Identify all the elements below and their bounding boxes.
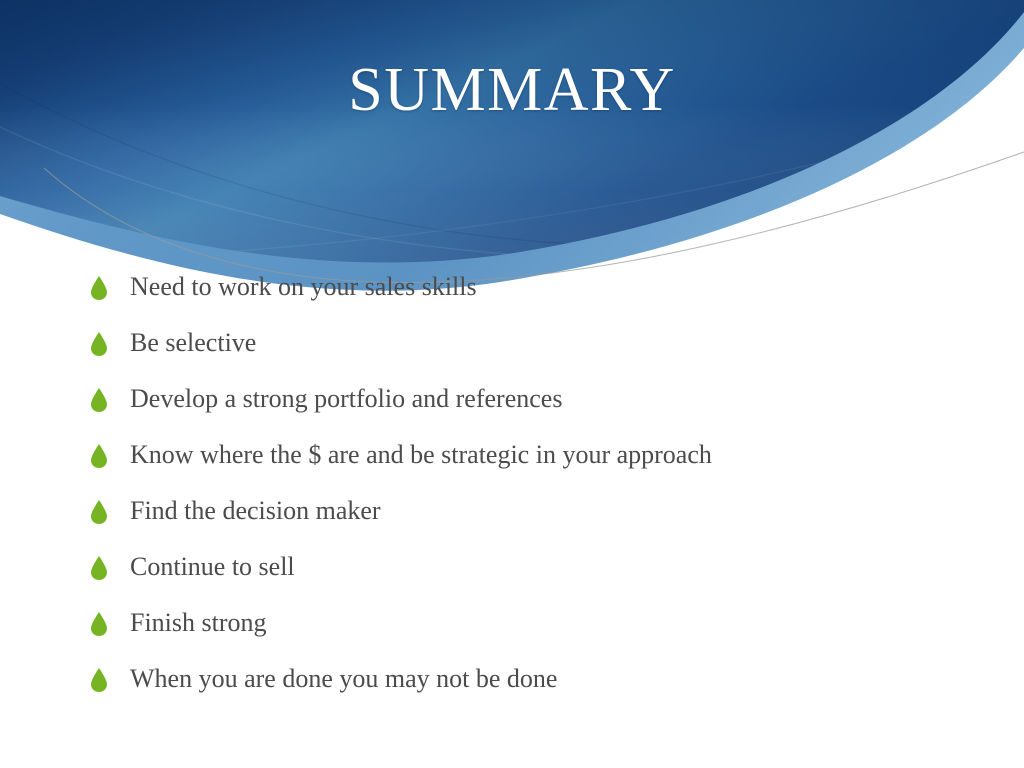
bullet-item: When you are done you may not be done [88,664,968,720]
green-teardrop-bullet-icon [88,331,110,357]
bullet-text: Continue to sell [130,552,968,582]
green-teardrop-bullet-icon [88,387,110,413]
header-blue-shape [0,0,1024,263]
bullet-text: Finish strong [130,608,968,638]
green-teardrop-bullet-icon [88,275,110,301]
header-sheen [0,0,1024,263]
bullet-item: Finish strong [88,608,968,664]
bullet-text: Be selective [130,328,968,358]
hairline-arc [44,152,1024,283]
accent-swoosh-shape [0,0,1024,291]
green-teardrop-bullet-icon [88,611,110,637]
bullet-item: Know where the $ are and be strategic in… [88,440,968,496]
bullet-text: Know where the $ are and be strategic in… [130,440,968,470]
header-decoration [0,0,1024,300]
green-teardrop-bullet-icon [88,667,110,693]
bullet-item: Need to work on your sales skills [88,272,968,328]
bullet-text: Find the decision maker [130,496,968,526]
bullet-item: Be selective [88,328,968,384]
green-teardrop-bullet-icon [88,499,110,525]
bullet-text: When you are done you may not be done [130,664,968,694]
slide-title: SUMMARY [0,58,1024,123]
green-teardrop-bullet-icon [88,555,110,581]
green-teardrop-bullet-icon [88,443,110,469]
presentation-slide: SUMMARY Need to work on your sales skill… [0,0,1024,768]
bullet-text: Develop a strong portfolio and reference… [130,384,968,414]
bullet-item: Develop a strong portfolio and reference… [88,384,968,440]
bullet-text: Need to work on your sales skills [130,272,968,302]
bullet-list: Need to work on your sales skills Be sel… [88,272,968,720]
bullet-item: Find the decision maker [88,496,968,552]
bullet-item: Continue to sell [88,552,968,608]
